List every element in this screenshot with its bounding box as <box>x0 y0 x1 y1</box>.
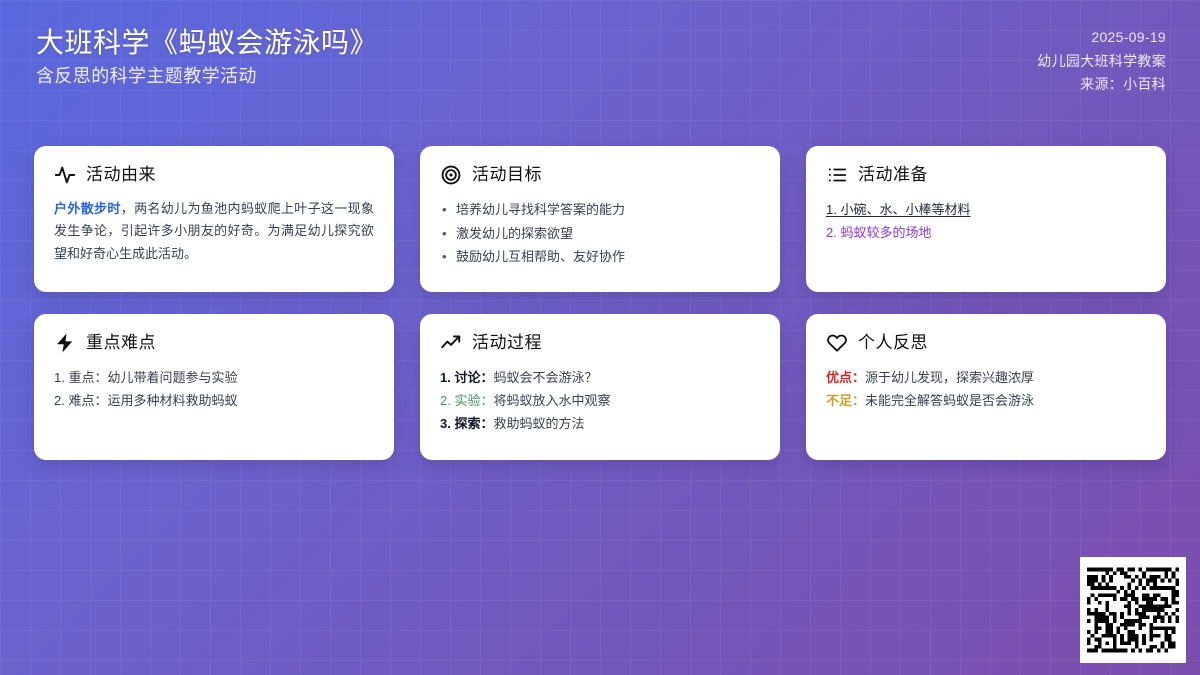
card-grid: 活动由来 户外散步时，两名幼儿为鱼池内蚂蚁爬上叶子这一现象发生争论，引起许多小朋… <box>34 146 1166 460</box>
card-body: 户外散步时，两名幼儿为鱼池内蚂蚁爬上叶子这一现象发生争论，引起许多小朋友的好奇。… <box>54 198 374 265</box>
process-row: 3. 探索：救助蚂蚁的方法 <box>440 412 760 435</box>
list-item: 1. 重点：幼儿带着问题参与实验 <box>54 366 374 389</box>
list-item: 2. 难点：运用多种材料救助蚂蚁 <box>54 389 374 412</box>
activity-pulse-icon <box>54 164 76 186</box>
goals-list: 培养幼儿寻找科学答案的能力 激发幼儿的探索欲望 鼓励幼儿互相帮助、友好协作 <box>440 198 760 269</box>
qr-code-block[interactable] <box>1080 557 1186 663</box>
origin-highlight: 户外散步时 <box>54 201 121 216</box>
card-activity-prep[interactable]: 活动准备 1. 小碗、水、小棒等材料 2. 蚂蚁较多的场地 <box>806 146 1166 292</box>
card-title: 重点难点 <box>86 334 156 353</box>
meta-category: 幼儿园大班科学教案 <box>1037 53 1166 71</box>
process-row: 1. 讨论：蚂蚁会不会游泳？ <box>440 366 760 389</box>
prep-item-2: 2. 蚂蚁较多的场地 <box>826 225 931 240</box>
card-header: 重点难点 <box>54 332 374 354</box>
card-body: 1. 小碗、水、小棒等材料 2. 蚂蚁较多的场地 <box>826 198 1146 244</box>
process-row: 2. 实验：将蚂蚁放入水中观察 <box>440 389 760 412</box>
page-title: 大班科学《蚂蚁会游泳吗》 <box>36 26 378 59</box>
card-activity-process[interactable]: 活动过程 1. 讨论：蚂蚁会不会游泳？ 2. 实验：将蚂蚁放入水中观察 3. 探… <box>420 314 780 460</box>
difficulty-list: 1. 重点：幼儿带着问题参与实验 2. 难点：运用多种材料救助蚂蚁 <box>54 366 374 412</box>
meta-date: 2025-09-19 <box>1091 29 1166 47</box>
card-body: 培养幼儿寻找科学答案的能力 激发幼儿的探索欲望 鼓励幼儿互相帮助、友好协作 <box>440 198 760 269</box>
card-title: 个人反思 <box>858 334 928 353</box>
meta-source: 来源：小百科 <box>1080 76 1166 94</box>
page-subtitle: 含反思的科学主题教学活动 <box>36 66 378 88</box>
card-title: 活动由来 <box>86 166 156 185</box>
target-icon <box>440 164 462 186</box>
card-title: 活动过程 <box>472 334 542 353</box>
qr-code-image <box>1087 564 1179 656</box>
list-item: 鼓励幼儿互相帮助、友好协作 <box>440 245 760 269</box>
list-item: 激发幼儿的探索欲望 <box>440 222 760 246</box>
card-activity-origin[interactable]: 活动由来 户外散步时，两名幼儿为鱼池内蚂蚁爬上叶子这一现象发生争论，引起许多小朋… <box>34 146 394 292</box>
origin-paragraph: 户外散步时，两名幼儿为鱼池内蚂蚁爬上叶子这一现象发生争论，引起许多小朋友的好奇。… <box>54 198 374 265</box>
card-header: 活动目标 <box>440 164 760 186</box>
header-meta-group: 2025-09-19 幼儿园大班科学教案 来源：小百科 <box>1037 26 1166 94</box>
card-title: 活动准备 <box>858 166 928 185</box>
card-title: 活动目标 <box>472 166 542 185</box>
card-personal-reflection[interactable]: 个人反思 优点：源于幼儿发现，探索兴趣浓厚 不足：未能完全解答蚂蚁是否会游泳 <box>806 314 1166 460</box>
list-item: 培养幼儿寻找科学答案的能力 <box>440 198 760 222</box>
card-header: 个人反思 <box>826 332 1146 354</box>
card-body: 1. 重点：幼儿带着问题参与实验 2. 难点：运用多种材料救助蚂蚁 <box>54 366 374 412</box>
reflection-row: 优点：源于幼儿发现，探索兴趣浓厚 <box>826 366 1146 389</box>
card-header: 活动由来 <box>54 164 374 186</box>
reflection-row: 不足：未能完全解答蚂蚁是否会游泳 <box>826 389 1146 412</box>
heart-icon <box>826 332 848 354</box>
slide-header: 大班科学《蚂蚁会游泳吗》 含反思的科学主题教学活动 2025-09-19 幼儿园… <box>0 0 1200 130</box>
trending-up-icon <box>440 332 462 354</box>
list-icon <box>826 164 848 186</box>
card-activity-goals[interactable]: 活动目标 培养幼儿寻找科学答案的能力 激发幼儿的探索欲望 鼓励幼儿互相帮助、友好… <box>420 146 780 292</box>
bolt-icon <box>54 332 76 354</box>
card-key-difficulties[interactable]: 重点难点 1. 重点：幼儿带着问题参与实验 2. 难点：运用多种材料救助蚂蚁 <box>34 314 394 460</box>
list-item: 2. 蚂蚁较多的场地 <box>826 221 1146 244</box>
prep-list: 1. 小碗、水、小棒等材料 2. 蚂蚁较多的场地 <box>826 198 1146 244</box>
header-title-group: 大班科学《蚂蚁会游泳吗》 含反思的科学主题教学活动 <box>36 26 378 88</box>
card-header: 活动过程 <box>440 332 760 354</box>
slide-page: 大班科学《蚂蚁会游泳吗》 含反思的科学主题教学活动 2025-09-19 幼儿园… <box>0 0 1200 675</box>
card-body: 1. 讨论：蚂蚁会不会游泳？ 2. 实验：将蚂蚁放入水中观察 3. 探索：救助蚂… <box>440 366 760 435</box>
card-header: 活动准备 <box>826 164 1146 186</box>
prep-item-1: 1. 小碗、水、小棒等材料 <box>826 202 970 217</box>
card-body: 优点：源于幼儿发现，探索兴趣浓厚 不足：未能完全解答蚂蚁是否会游泳 <box>826 366 1146 412</box>
list-item: 1. 小碗、水、小棒等材料 <box>826 198 1146 221</box>
